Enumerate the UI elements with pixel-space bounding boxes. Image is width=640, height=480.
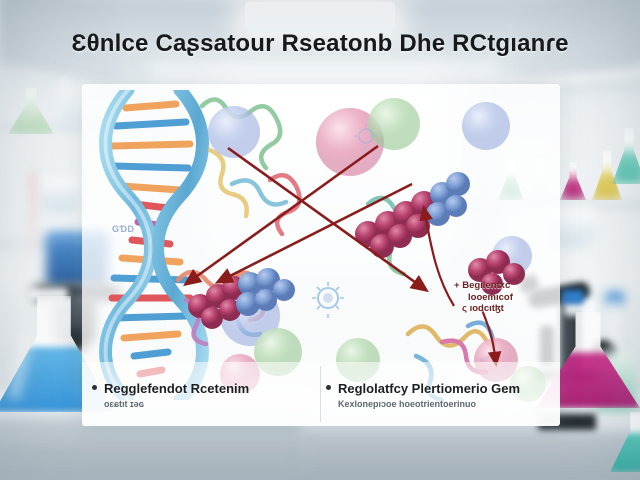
caption-divider <box>320 366 321 422</box>
flask-magenta-cap <box>562 290 584 304</box>
caption-right-title: Reglolatfcy Plertiomerio Gem <box>338 381 552 396</box>
funnel-icon <box>40 178 82 212</box>
flask-shelf-teal <box>612 128 640 184</box>
caption-left-bullet <box>92 385 97 390</box>
callout-line-1-text: Begılentxc <box>462 280 510 291</box>
sphere-chain-upper <box>355 172 470 258</box>
callout-label: + Begılentxc loοemıcof ς ıodcιtɮt <box>454 280 560 315</box>
callout-line-2: loοemıcof <box>454 292 560 304</box>
flask-green-icon <box>8 88 54 134</box>
diagram-content: GƊD <box>82 84 560 426</box>
cabinet-seam <box>0 452 640 454</box>
page-title: Ɛθnlce Caʂsatour Rseatonb Dhe RCtgıanɾe <box>0 30 640 58</box>
test-tube-icon <box>62 82 71 130</box>
counter-right-body <box>300 428 640 480</box>
virus-particle-icon <box>312 282 344 318</box>
callout-line-1: + Begılentxc <box>454 280 560 292</box>
callout-marker-plus: + <box>454 280 460 291</box>
callout-line-3-text: ıodcιtɮt <box>470 303 504 314</box>
glass-rod-white <box>18 180 22 254</box>
caption-right: Reglolatfcy Plertiomerio Gem Kexlonepıɔo… <box>338 381 552 410</box>
callout-line-3: ς ıodcιtɮt <box>454 303 560 315</box>
caption-right-subtitle: Kexlonepıɔoe hoeotrientoerinuo <box>338 398 552 410</box>
diagram-panel: GƊD <box>82 84 560 426</box>
glass-rod-pink <box>30 172 35 250</box>
flask-shelf-magenta <box>560 162 586 200</box>
caption-left-subtitle: oɛɕtıt ɪǝɢ <box>104 398 314 410</box>
caption-left: Regglefendot Rcetenim oɛɕtıt ɪǝɢ <box>104 381 314 410</box>
screenshot-root: Ɛθnlce Caʂsatour Rseatonb Dhe RCtgıanɾe <box>0 0 640 480</box>
ceiling-light-icon <box>245 2 395 32</box>
caption-right-bullet <box>326 385 331 390</box>
caption-left-title: Regglefendot Rcetenim <box>104 381 314 396</box>
callout-marker-hook: ς <box>462 303 467 314</box>
